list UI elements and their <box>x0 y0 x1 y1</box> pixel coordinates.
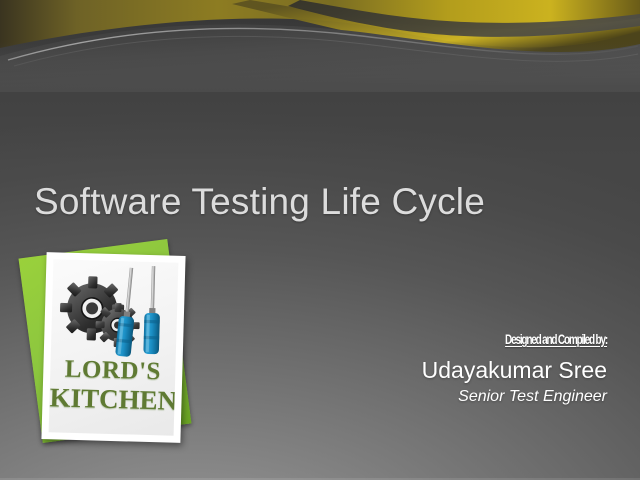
credits-block: Designed and Compiled by: Udayakumar Sre… <box>357 331 607 407</box>
presentation-slide: Software Testing Life Cycle <box>0 0 640 480</box>
credits-author-name: Udayakumar Sree <box>357 356 607 384</box>
logo-white-card: LORD'S KITCHEN <box>41 252 185 443</box>
credits-author-role: Senior Test Engineer <box>357 386 607 407</box>
credits-prefix: Designed and Compiled by: <box>422 331 607 348</box>
logo-wordmark-top: LORD'S <box>50 355 176 385</box>
logo-tools-artwork <box>51 261 179 360</box>
screwdriver-icon <box>143 266 161 354</box>
logo-wordmark-bottom: KITCHEN <box>49 383 175 415</box>
logo-image: LORD'S KITCHEN <box>22 236 208 452</box>
logo-card-inner: LORD'S KITCHEN <box>49 259 179 435</box>
header-swoosh-decoration <box>0 0 640 92</box>
slide-title: Software Testing Life Cycle <box>34 179 594 225</box>
